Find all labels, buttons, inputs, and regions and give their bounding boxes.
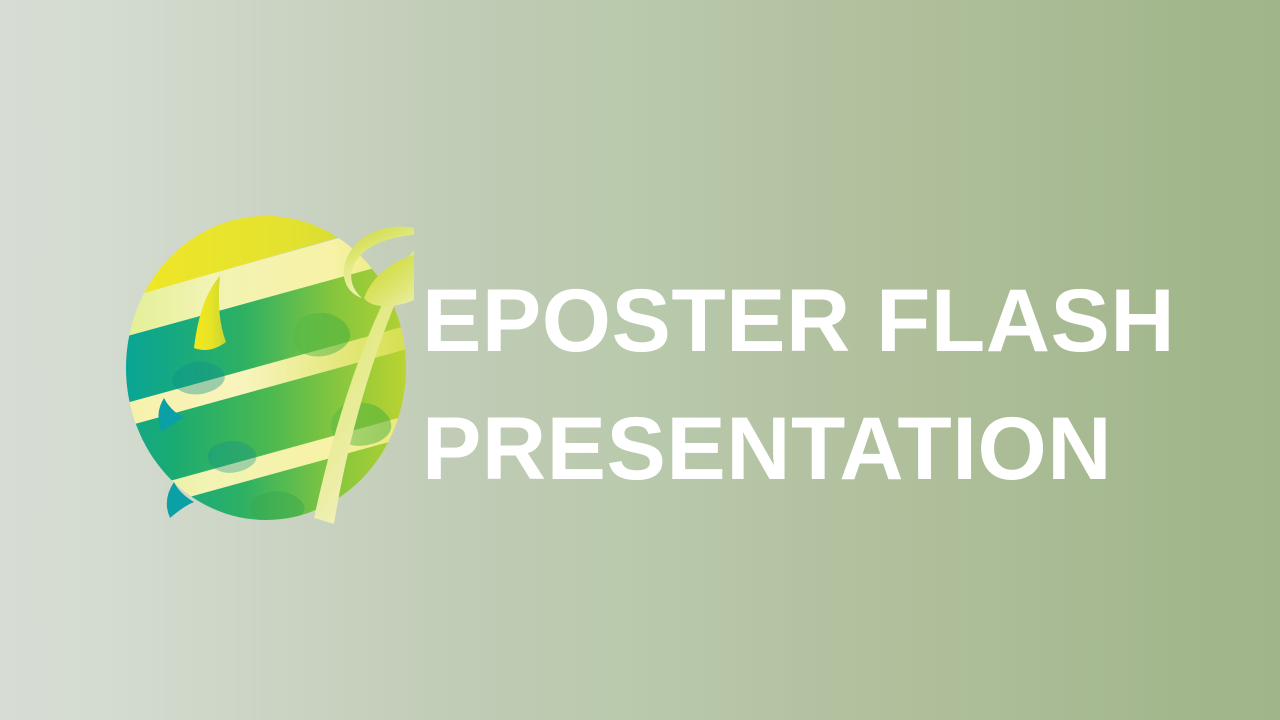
logo-svg [118,200,414,525]
globe-ribbon-leaf-logo [118,200,414,525]
title-line-1: EPOSTER FLASH [422,256,1222,384]
title-line-2: PRESENTATION [422,384,1222,512]
slide-canvas: EPOSTER FLASH PRESENTATION [0,0,1280,720]
title-block: EPOSTER FLASH PRESENTATION [422,256,1222,512]
